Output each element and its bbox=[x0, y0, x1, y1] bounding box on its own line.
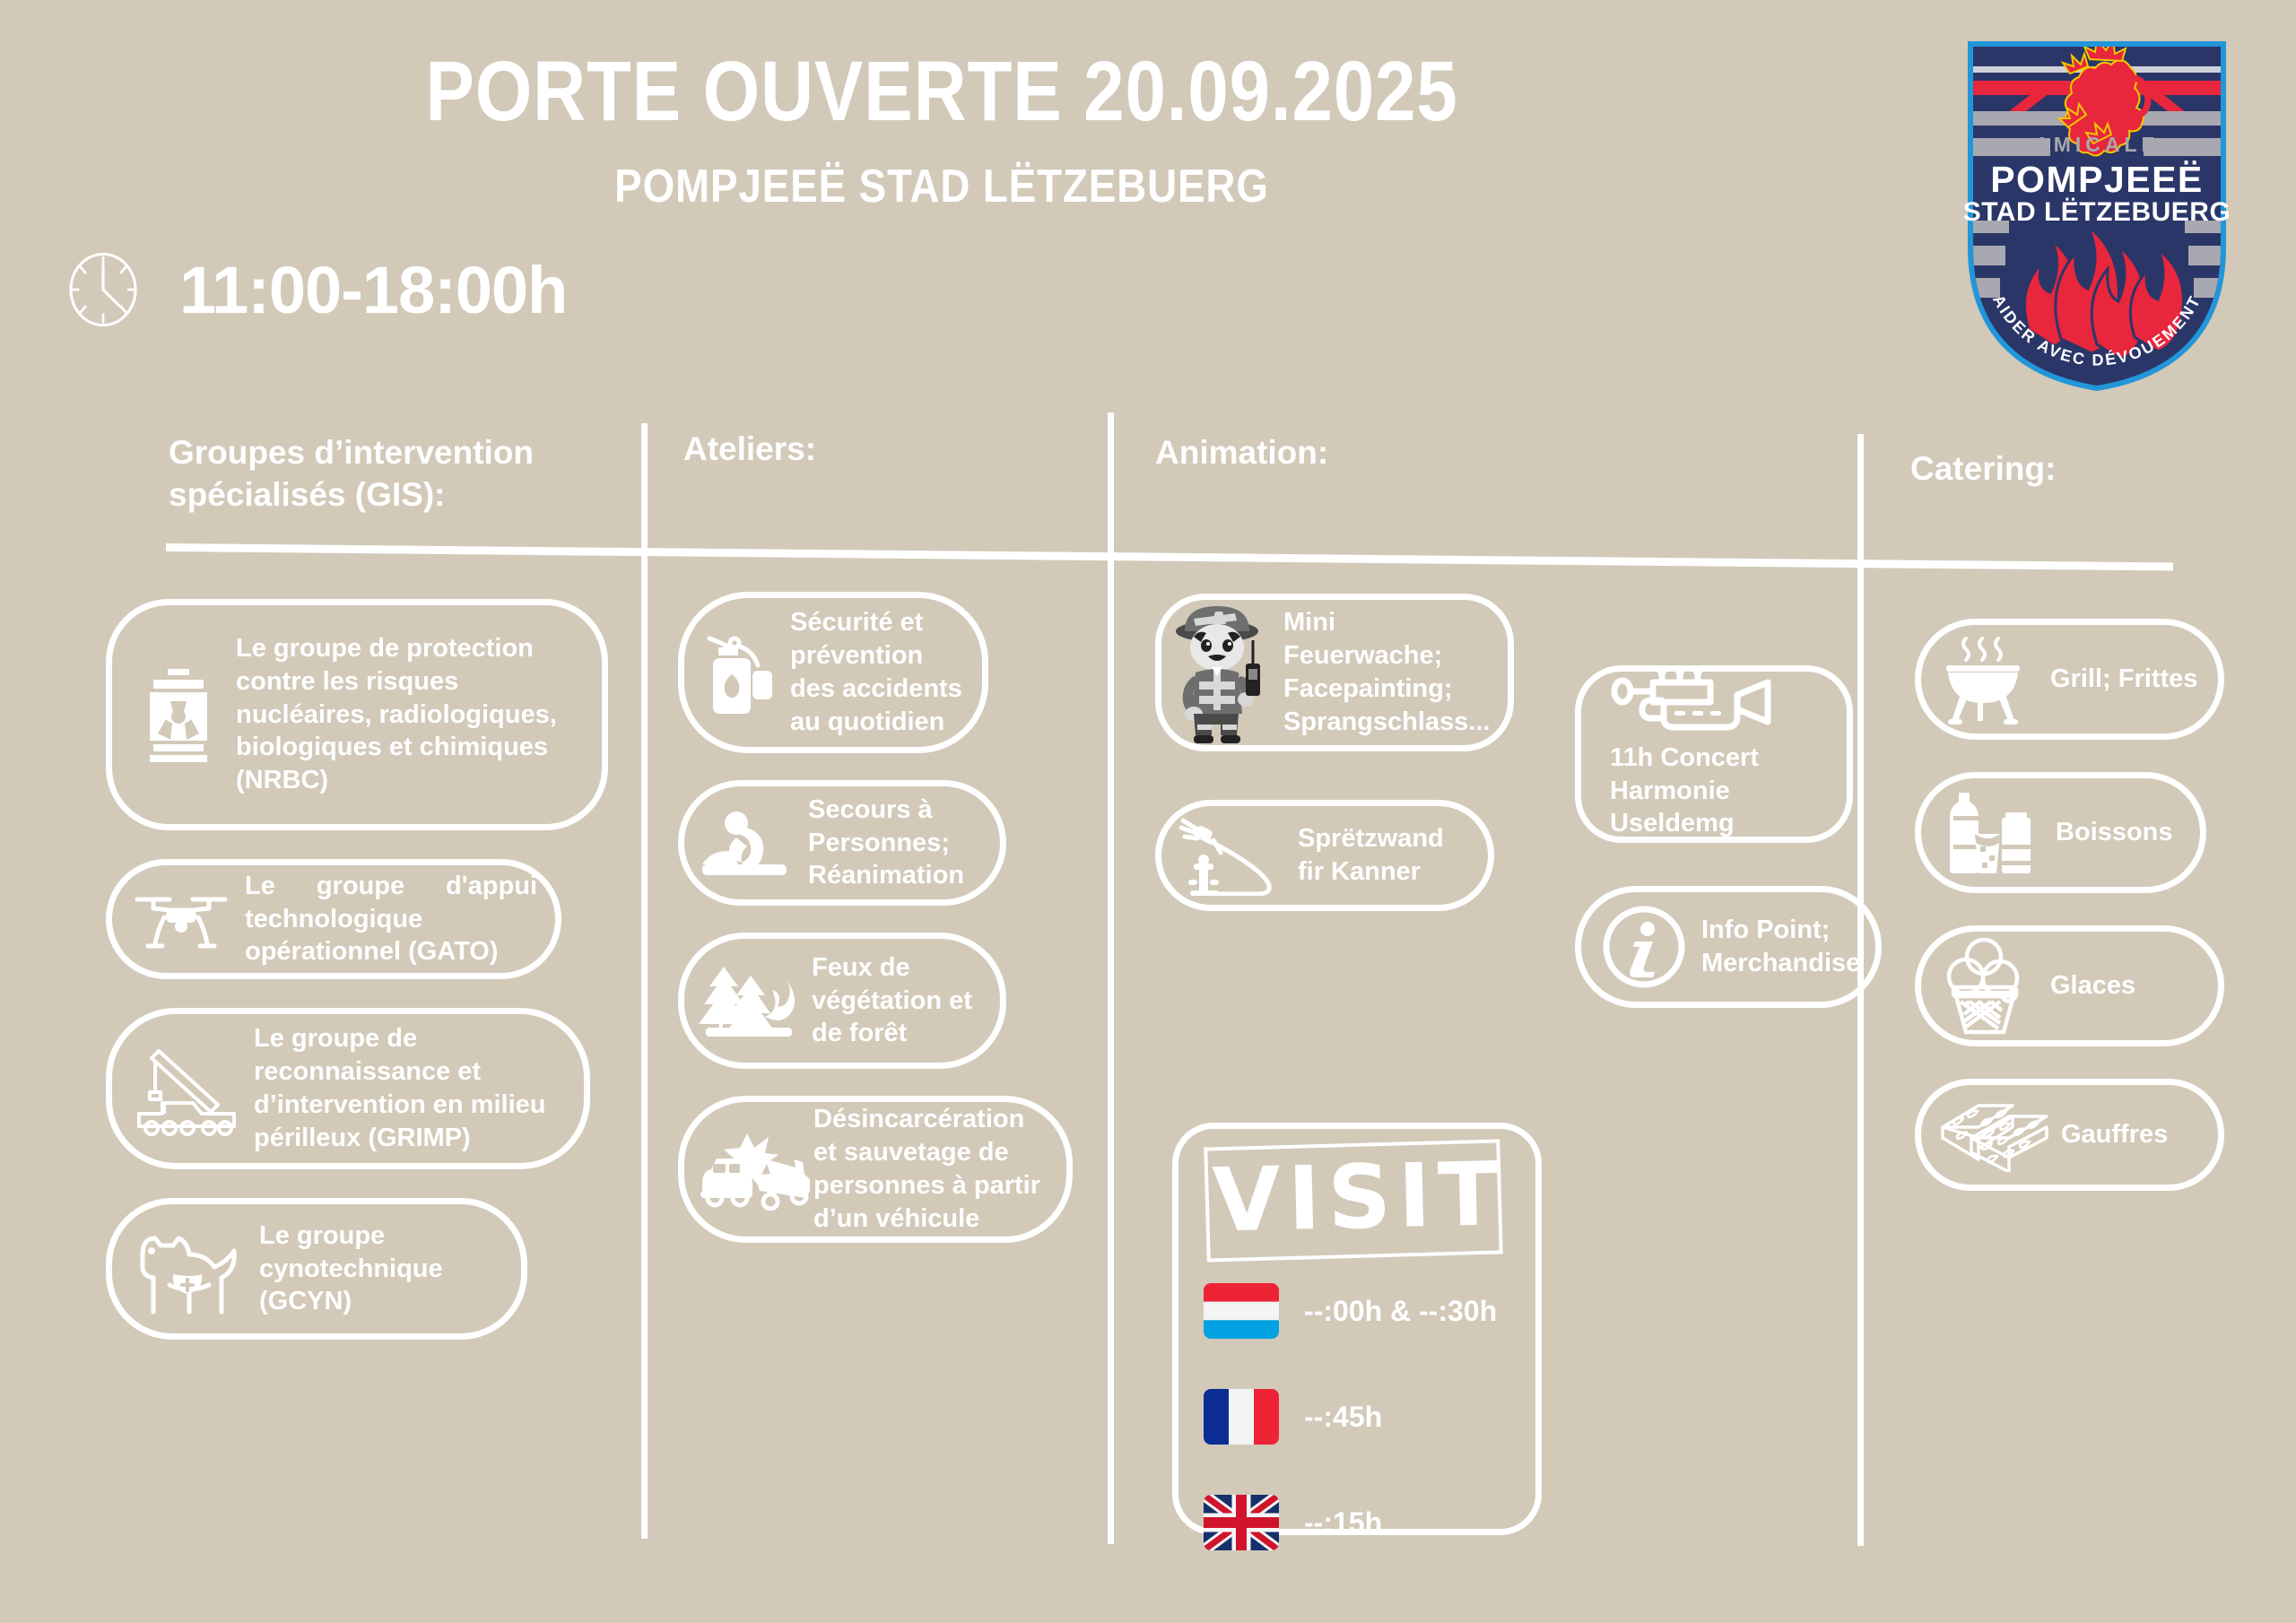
list-item[interactable]: Secours à Personnes; Réanimation bbox=[678, 780, 1006, 906]
page-title: PORTE OUVERTE 20.09.2025 bbox=[132, 43, 1752, 141]
list-item[interactable]: Sprëtzwand fir Kanner bbox=[1155, 800, 1494, 911]
visit-banner-text: VISIT bbox=[1212, 1143, 1501, 1252]
fire-extinguisher-icon bbox=[702, 626, 779, 719]
list-item[interactable]: Désincarcération et sauvetage de personn… bbox=[678, 1096, 1073, 1243]
flag-luxembourg-icon bbox=[1204, 1283, 1279, 1339]
visit-schedule-card[interactable]: VISIT --:00h & --:30h --:45h bbox=[1172, 1123, 1542, 1535]
cpr-icon bbox=[699, 809, 803, 877]
section-ateliers: Ateliers: Sécurité e bbox=[683, 429, 1087, 471]
list-item-label: Le groupe cynotechnique (GCYN) bbox=[259, 1219, 503, 1318]
list-item-label: Sécurité et prévention des accidents au … bbox=[790, 606, 964, 738]
section-heading-animation: Animation: bbox=[1155, 432, 1837, 474]
drinks-icon bbox=[1935, 791, 2034, 875]
visit-row: --:15h bbox=[1204, 1495, 1382, 1550]
list-item[interactable]: Feux de végétation et de forêt bbox=[678, 933, 1006, 1069]
page-subtitle: POMPJEEË STAD LËTZEBUERG bbox=[113, 160, 1770, 213]
list-item[interactable]: 11h Concert Harmonie Useldemg bbox=[1575, 665, 1853, 843]
list-item-label: Secours à Personnes; Réanimation bbox=[808, 794, 982, 892]
radioactive-barrel-icon bbox=[135, 665, 222, 764]
list-item[interactable]: Le groupe d'appui technologique opératio… bbox=[106, 859, 561, 979]
header-rule bbox=[166, 543, 2173, 570]
poster-header: PORTE OUVERTE 20.09.2025 POMPJEEË STAD L… bbox=[0, 0, 2296, 269]
list-item-label: Le groupe de protection contre les risqu… bbox=[236, 632, 568, 797]
crane-truck-icon bbox=[132, 1040, 241, 1137]
section-heading-ateliers: Ateliers: bbox=[683, 429, 1087, 471]
list-item-label: Gauffres bbox=[2061, 1118, 2200, 1151]
list-item-label: Feux de végétation et de forêt bbox=[812, 951, 982, 1050]
section-heading-catering: Catering: bbox=[1910, 448, 2269, 490]
rescue-dog-icon bbox=[134, 1222, 245, 1315]
list-item-label: Sprëtzwand fir Kanner bbox=[1298, 822, 1470, 889]
section-animation: Animation: bbox=[1155, 432, 1837, 474]
opening-hours-text: 11:00-18:00h bbox=[179, 252, 567, 328]
section-heading-gis: Groupes d’intervention spécialisés (GIS)… bbox=[169, 432, 581, 516]
list-item[interactable]: Boissons bbox=[1915, 772, 2206, 893]
visit-row: --:45h bbox=[1204, 1389, 1382, 1445]
list-item[interactable]: Mini Feuerwache; Facepainting; Sprangsch… bbox=[1155, 594, 1514, 751]
opening-hours: 11:00-18:00h bbox=[63, 249, 567, 330]
logo-amicale-text: AMICALE bbox=[2034, 133, 2160, 156]
amicale-logo: AMICALE POMPJEEË STAD LËTZEBUERG AIDER A… bbox=[1962, 34, 2231, 393]
list-item-label: Info Point; Merchandise bbox=[1701, 914, 1860, 980]
clock-icon bbox=[63, 249, 143, 330]
visit-row: --:00h & --:30h bbox=[1204, 1283, 1497, 1339]
list-item[interactable]: Le groupe de reconnaissance et d’interve… bbox=[106, 1008, 590, 1169]
logo-line1: POMPJEEË bbox=[1990, 159, 2204, 200]
car-crash-icon bbox=[699, 1128, 810, 1211]
forest-fire-icon bbox=[699, 959, 804, 1042]
visit-time: --:00h & --:30h bbox=[1304, 1295, 1497, 1328]
list-item[interactable]: Info Point; Merchandise bbox=[1575, 886, 1882, 1008]
list-item-label: 11h Concert Harmonie Useldemg bbox=[1610, 742, 1834, 840]
visit-time: --:15h bbox=[1304, 1506, 1382, 1540]
list-item-label: Le groupe d'appui technologique opératio… bbox=[245, 870, 537, 968]
list-item[interactable]: Sécurité et prévention des accidents au … bbox=[678, 592, 988, 753]
list-item[interactable]: Glaces bbox=[1915, 925, 2224, 1046]
list-item-label: Le groupe de reconnaissance et d’interve… bbox=[254, 1022, 566, 1154]
firefighter-mascot-icon bbox=[1170, 601, 1276, 744]
grill-icon bbox=[1935, 635, 2031, 725]
info-icon bbox=[1601, 904, 1687, 990]
list-item-label: Glaces bbox=[2050, 969, 2200, 1002]
section-gis: Groupes d’intervention spécialisés (GIS)… bbox=[169, 432, 635, 516]
waffle-icon bbox=[1935, 1098, 2052, 1172]
logo-line2: STAD LËTZEBUERG bbox=[1963, 197, 2231, 227]
list-item-label: Grill; Frittes bbox=[2050, 663, 2200, 696]
flag-france-icon bbox=[1204, 1389, 1279, 1445]
list-item-label: Désincarcération et sauvetage de personn… bbox=[813, 1103, 1048, 1235]
list-item[interactable]: Le groupe cynotechnique (GCYN) bbox=[106, 1198, 527, 1340]
visit-time: --:45h bbox=[1304, 1401, 1382, 1434]
section-catering: Catering: bbox=[1910, 448, 2269, 490]
list-item[interactable]: Gauffres bbox=[1915, 1079, 2224, 1191]
column-divider-1 bbox=[641, 423, 648, 1539]
flag-uk-icon bbox=[1204, 1495, 1279, 1550]
drone-icon bbox=[132, 887, 230, 951]
trumpet-icon bbox=[1610, 668, 1786, 738]
ice-cream-icon bbox=[1939, 937, 2029, 1036]
list-item-label: Boissons bbox=[2056, 816, 2182, 849]
list-item[interactable]: Le groupe de protection contre les risqu… bbox=[106, 599, 608, 830]
list-item-label: Mini Feuerwache; Facepainting; Sprangsch… bbox=[1283, 606, 1490, 738]
column-divider-2 bbox=[1108, 412, 1114, 1544]
list-item[interactable]: Grill; Frittes bbox=[1915, 619, 2224, 740]
fire-hose-icon bbox=[1176, 815, 1292, 896]
